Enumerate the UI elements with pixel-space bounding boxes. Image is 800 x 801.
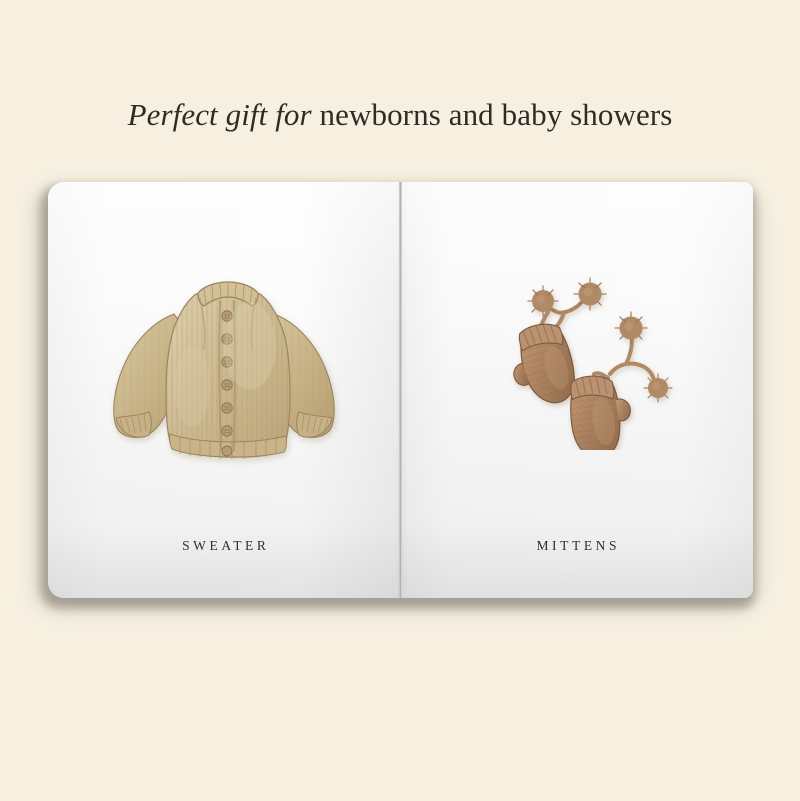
sweater-icon bbox=[100, 266, 348, 478]
product-image-canvas: Perfect gift for newborns and baby showe… bbox=[0, 0, 800, 801]
caption-mittens: MITTENS bbox=[400, 538, 753, 554]
board-book-spread: SWEATER bbox=[37, 180, 755, 608]
book-page-left: SWEATER bbox=[48, 182, 400, 598]
book-spine bbox=[399, 182, 402, 598]
book-pages: SWEATER bbox=[48, 182, 753, 598]
mittens-icon bbox=[486, 270, 686, 450]
book-page-right: MITTENS bbox=[400, 182, 753, 598]
headline-regular-text: newborns and baby showers bbox=[312, 97, 673, 132]
left-page-illustration-area bbox=[48, 182, 400, 598]
page-title: Perfect gift for newborns and baby showe… bbox=[0, 95, 800, 135]
caption-sweater: SWEATER bbox=[48, 538, 400, 554]
right-page-illustration-area bbox=[400, 182, 753, 598]
headline-italic-text: Perfect gift for bbox=[128, 97, 312, 132]
